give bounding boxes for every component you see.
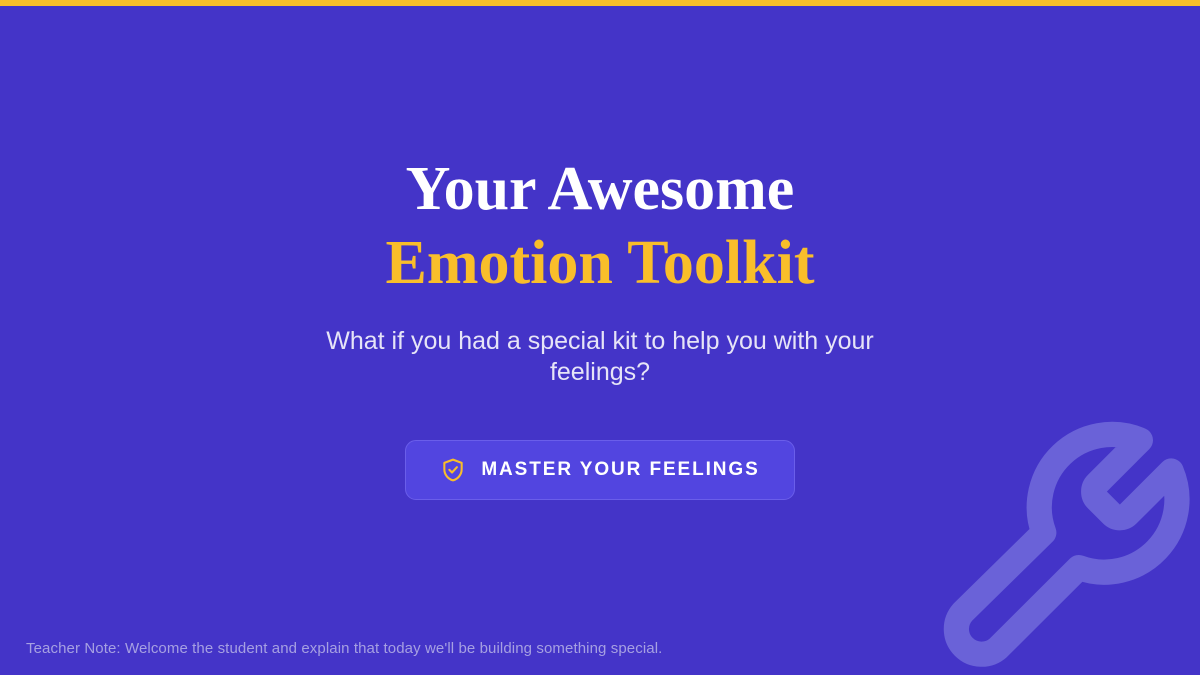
headline-line-1: Your Awesome [386,152,815,226]
slide-content: Your Awesome Emotion Toolkit What if you… [0,0,1200,675]
slide-canvas: Your Awesome Emotion Toolkit What if you… [0,0,1200,675]
shield-check-icon [440,457,466,483]
subtitle-text: What if you had a special kit to help yo… [290,326,910,388]
headline-line-2: Emotion Toolkit [386,226,815,300]
page-title: Your Awesome Emotion Toolkit [386,152,815,300]
gold-accent-bar [0,0,1200,6]
teacher-note: Teacher Note: Welcome the student and ex… [26,639,662,659]
cta-button-label: MASTER YOUR FEELINGS [481,459,759,481]
master-your-feelings-button[interactable]: MASTER YOUR FEELINGS [405,440,795,500]
